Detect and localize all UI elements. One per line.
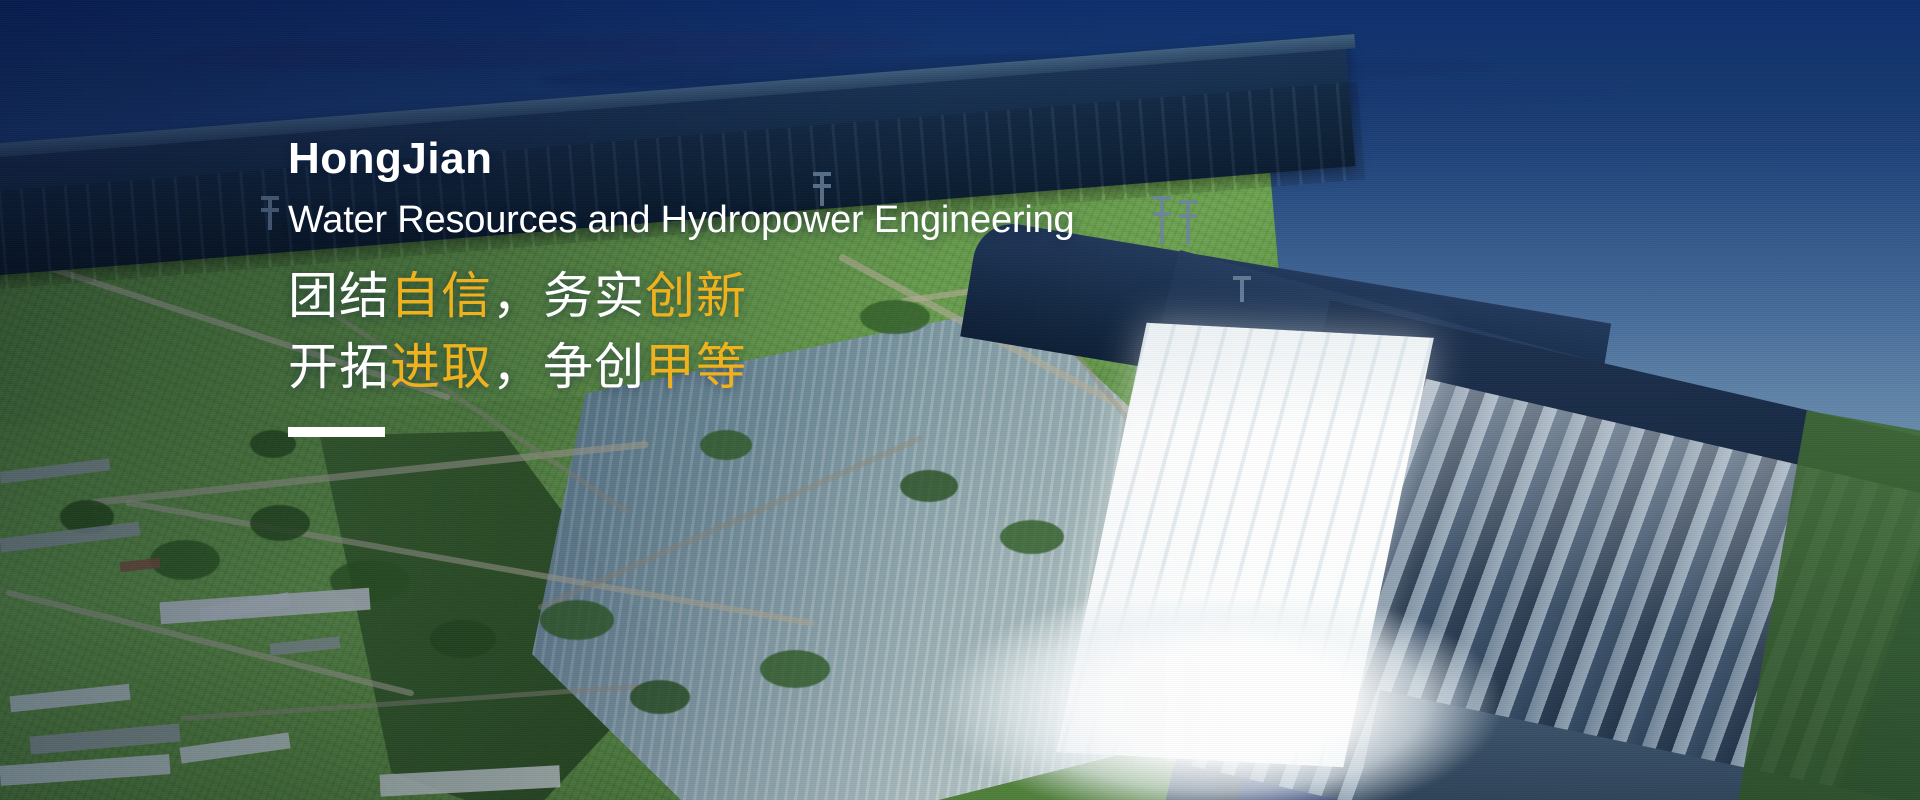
slogan-2-segment-white-a: 开拓 [288,339,390,395]
slogan-1-segment-gold-b: 创新 [645,268,747,324]
slogan-1-segment-white-a: 团结 [288,268,390,324]
banner-copy: HongJian Water Resources and Hydropower … [288,134,1188,437]
hero-banner: HongJian Water Resources and Hydropower … [0,0,1920,800]
slogan-line-2: 开拓进取，争创甲等 [288,332,1188,403]
slogan-1-segment-gold-a: 自信 [390,268,492,324]
brand-tagline: Water Resources and Hydropower Engineeri… [288,199,1188,242]
slogan-1-segment-white-b: ，务实 [492,268,645,324]
slogan-2-segment-gold-b: 甲等 [645,339,747,395]
accent-rule [288,427,385,437]
brand-name: HongJian [288,134,1188,185]
slogan-2-segment-gold-a: 进取 [390,339,492,395]
slogan-line-1: 团结自信，务实创新 [288,261,1188,332]
slogan-2-segment-white-b: ，争创 [492,339,645,395]
